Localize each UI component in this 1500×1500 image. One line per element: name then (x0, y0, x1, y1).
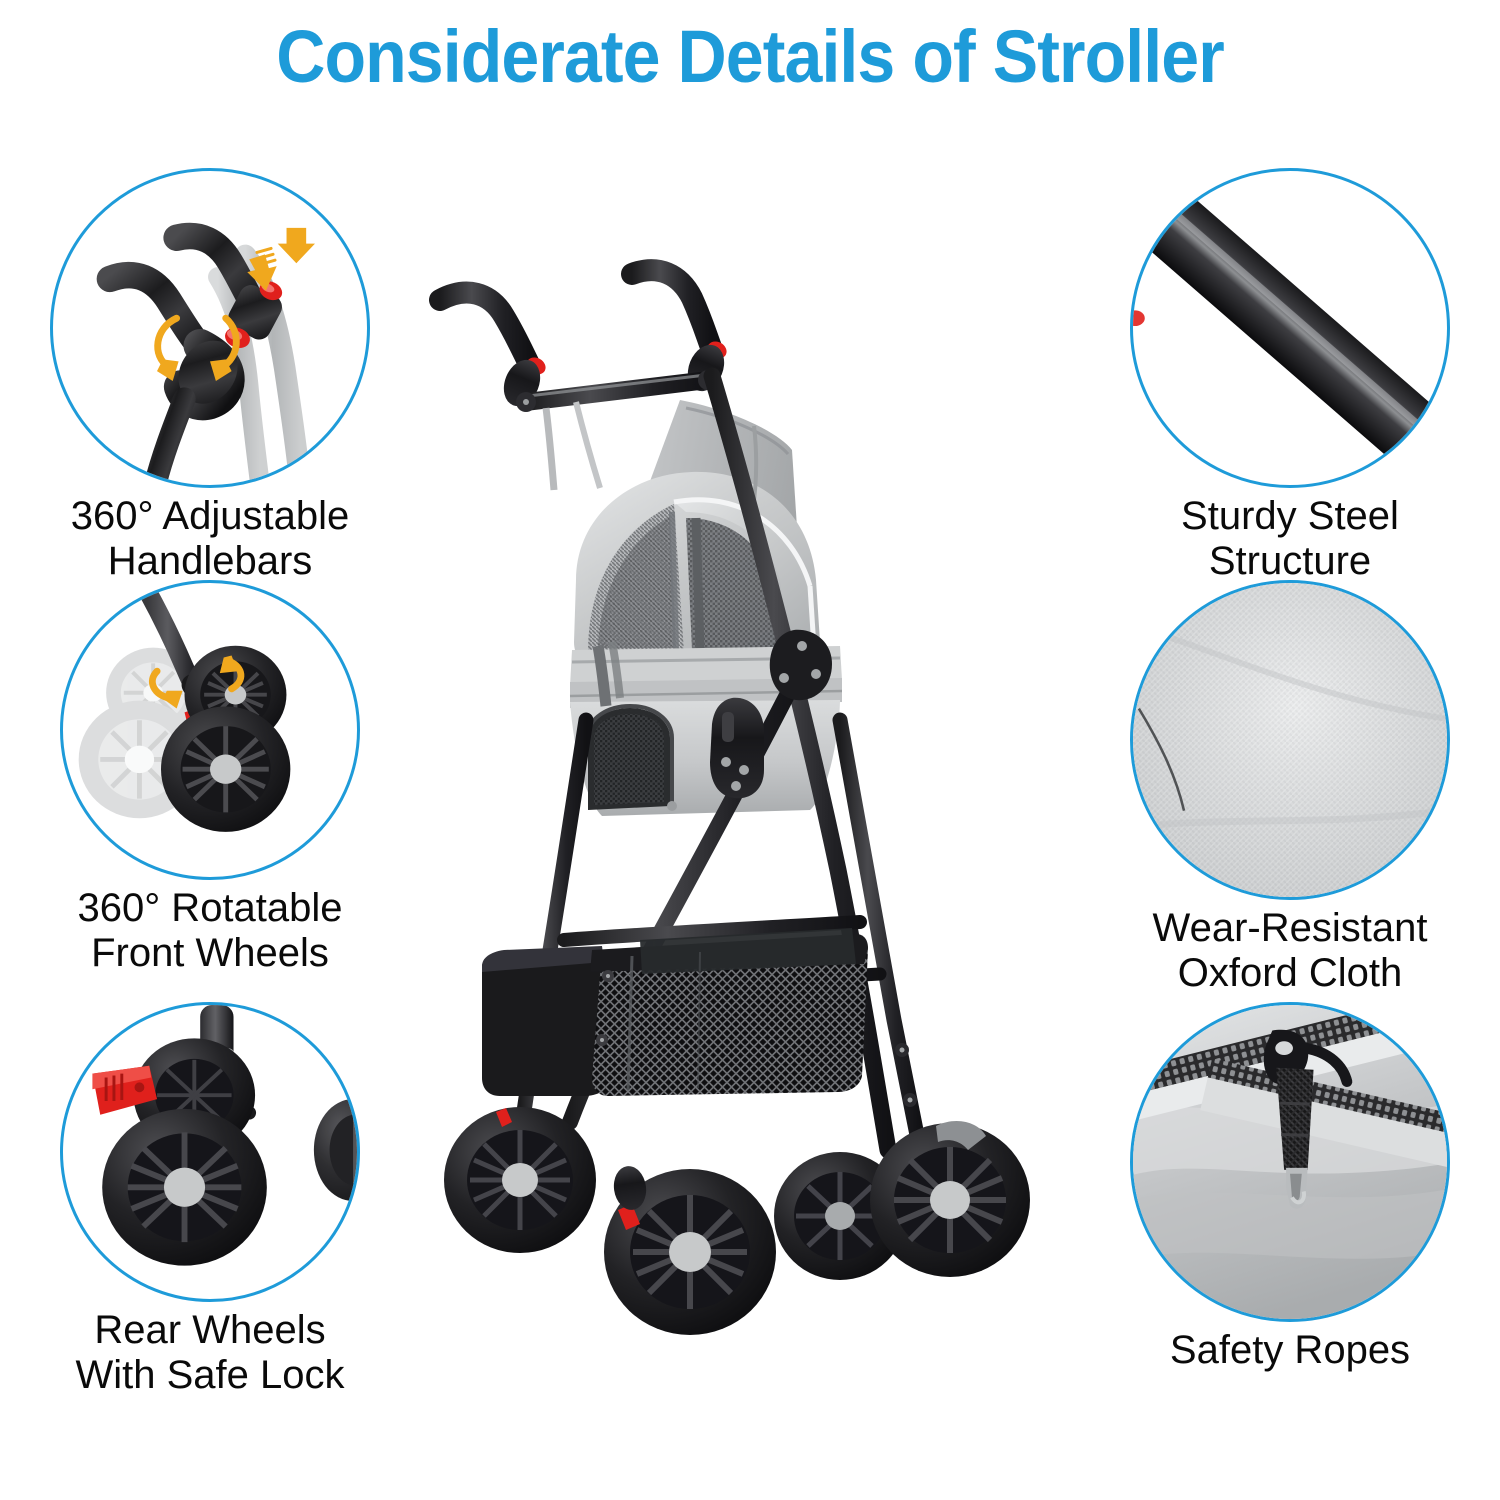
wheel-rear-left (444, 1107, 596, 1253)
storage-basket (482, 928, 868, 1096)
frame-hinge-joint (770, 630, 832, 700)
handle-crossbar (526, 380, 708, 402)
oxford-cloth-icon (1130, 580, 1450, 900)
steel-tube-icon (1130, 168, 1450, 488)
right-handlebar-grip (632, 270, 712, 350)
fold-lock-barrel (710, 698, 764, 798)
page-title: Considerate Details of Stroller (60, 14, 1440, 99)
safety-rope-icon (1130, 1002, 1450, 1322)
front-caster-wheel-icon (60, 580, 360, 880)
rear-wheel-brake-icon (60, 1002, 360, 1302)
left-handlebar-grip (440, 293, 530, 366)
product-photo-pet-stroller (340, 250, 1160, 1380)
handlebar-joint-icon (50, 168, 370, 488)
wheel-front-left (604, 1164, 776, 1335)
